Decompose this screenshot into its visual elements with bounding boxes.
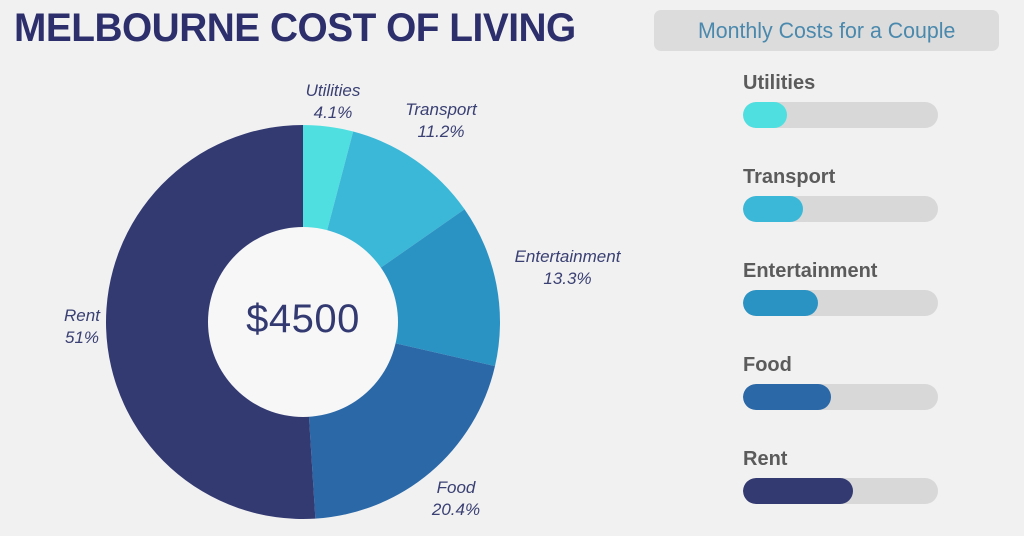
slice-label-transport: Transport 11.2% [392,99,490,143]
slice-label-food-pct: 20.4% [410,499,502,521]
bar-track-food [743,384,938,410]
legend-label-utilities: Utilities [743,72,938,95]
slice-label-utilities: Utilities 4.1% [288,80,378,124]
legend-row-entertainment: Entertainment [743,260,938,316]
legend-row-rent: Rent [743,448,938,504]
slice-label-food: Food 20.4% [410,477,502,521]
legend-row-utilities: Utilities [743,72,938,128]
bar-fill-rent [743,478,853,504]
bar-fill-entertainment [743,290,818,316]
legend-row-food: Food [743,354,938,410]
legend-row-transport: Transport [743,166,938,222]
bar-fill-food [743,384,831,410]
donut-center-value: $4500 [203,297,403,342]
bar-fill-transport [743,196,803,222]
bar-track-transport [743,196,938,222]
legend-label-transport: Transport [743,166,938,189]
legend-label-entertainment: Entertainment [743,260,938,283]
slice-label-entertainment: Entertainment 13.3% [500,246,635,290]
subtitle-badge: Monthly Costs for a Couple [654,10,999,51]
legend-label-food: Food [743,354,938,377]
slice-label-transport-name: Transport [405,100,477,119]
bar-track-utilities [743,102,938,128]
slice-label-entertainment-pct: 13.3% [500,268,635,290]
slice-label-rent-pct: 51% [40,327,124,349]
bar-track-rent [743,478,938,504]
slice-label-transport-pct: 11.2% [392,121,490,143]
slice-label-entertainment-name: Entertainment [515,247,621,266]
bar-track-entertainment [743,290,938,316]
legend-label-rent: Rent [743,448,938,471]
bar-fill-utilities [743,102,787,128]
slice-label-rent-name: Rent [64,306,100,325]
subtitle-badge-label: Monthly Costs for a Couple [698,18,955,44]
header: MELBOURNE COST OF LIVING Monthly Costs f… [0,0,1024,62]
slice-label-rent: Rent 51% [40,305,124,349]
legend-panel: UtilitiesTransportEntertainmentFoodRent [743,72,943,528]
slice-label-utilities-name: Utilities [306,81,361,100]
slice-label-food-name: Food [437,478,476,497]
donut-chart: $4500 Utilities 4.1% Transport 11.2% Ent… [0,62,700,536]
slice-label-utilities-pct: 4.1% [288,102,378,124]
page-title: MELBOURNE COST OF LIVING [14,6,576,51]
